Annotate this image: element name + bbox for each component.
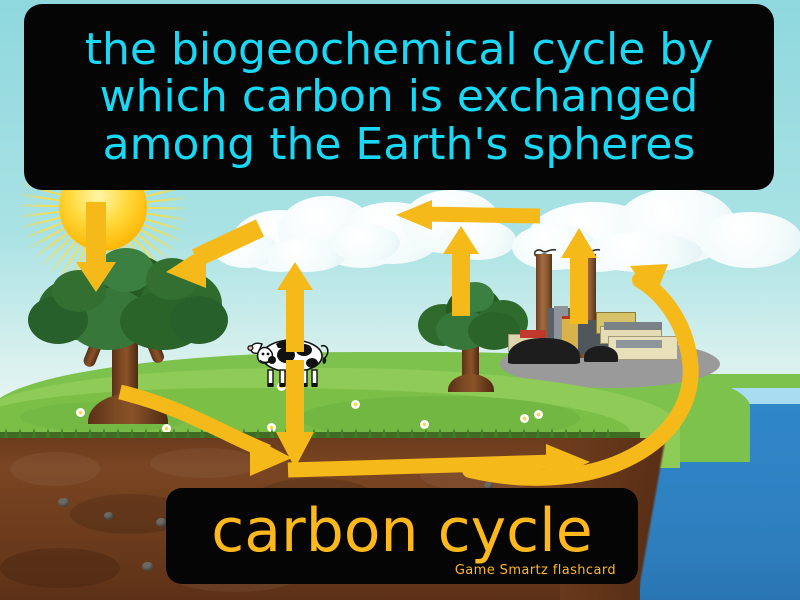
cow xyxy=(246,330,332,388)
tree-root xyxy=(88,394,168,424)
cloud-center xyxy=(330,190,520,260)
tree-root xyxy=(448,374,494,392)
daisy xyxy=(534,410,543,419)
term-box: carbon cycle Game Smartz flashcard xyxy=(166,488,638,584)
coal-pile xyxy=(584,346,618,362)
daisy xyxy=(520,414,529,423)
definition-text: the biogeochemical cycle by which carbon… xyxy=(24,26,774,169)
coal-pile xyxy=(508,338,580,364)
tree-large xyxy=(28,244,228,424)
term-text: carbon cycle xyxy=(166,494,638,568)
attribution-text: Game Smartz flashcard xyxy=(455,563,616,578)
factory xyxy=(500,246,700,364)
factory-building xyxy=(520,330,546,338)
factory-building xyxy=(604,322,662,330)
factory-building xyxy=(616,340,662,348)
flashcard: the biogeochemical cycle by which carbon… xyxy=(0,0,800,600)
daisy xyxy=(351,400,360,409)
definition-box: the biogeochemical cycle by which carbon… xyxy=(24,4,774,190)
tree-canopy xyxy=(28,244,228,354)
